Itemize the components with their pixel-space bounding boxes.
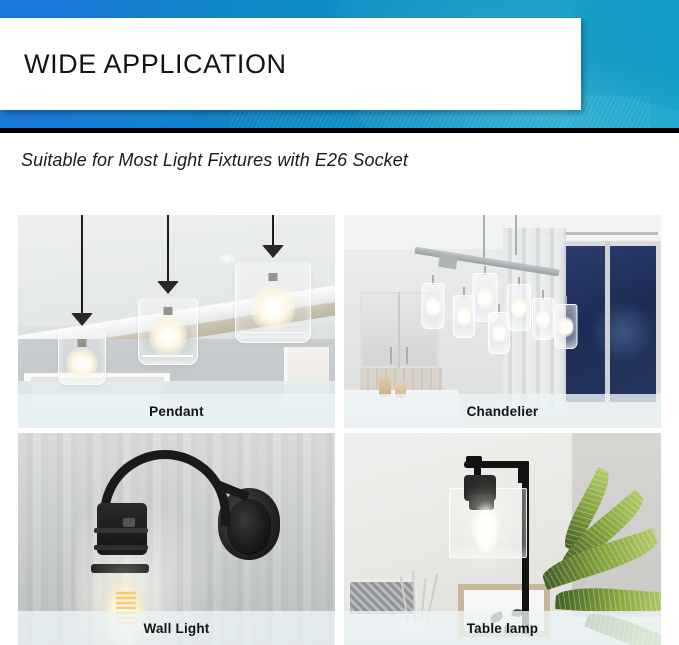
tile-label: Pendant [149,404,204,419]
application-gallery: Pendant [18,215,661,645]
tile-label: Chandelier [467,404,539,419]
header-banner: WIDE APPLICATION [0,0,679,133]
chandelier-jar-light-icon [420,275,446,337]
gallery-tile-wall-light[interactable]: Wall Light [18,433,335,645]
gallery-tile-table-lamp[interactable]: Table lamp [344,433,661,645]
tile-caption-bar: Chandelier [344,394,661,428]
chandelier-jar-light-icon [506,277,533,340]
tile-label: Wall Light [144,621,210,636]
gallery-tile-chandelier[interactable]: Chandelier [344,215,661,428]
chandelier-jar-light-icon [553,296,579,356]
tile-label: Table lamp [467,621,539,636]
gallery-tile-pendant[interactable]: Pendant [18,215,335,428]
banner-bottom-rule [0,128,679,133]
tile-caption-bar: Pendant [18,394,335,428]
chandelier-jar-light-icon [531,290,555,347]
tile-caption-bar: Wall Light [18,611,335,645]
subtitle: Suitable for Most Light Fixtures with E2… [21,150,408,171]
tile-caption-bar: Table lamp [344,611,661,645]
title-card: WIDE APPLICATION [0,18,581,110]
page-title: WIDE APPLICATION [0,51,287,78]
